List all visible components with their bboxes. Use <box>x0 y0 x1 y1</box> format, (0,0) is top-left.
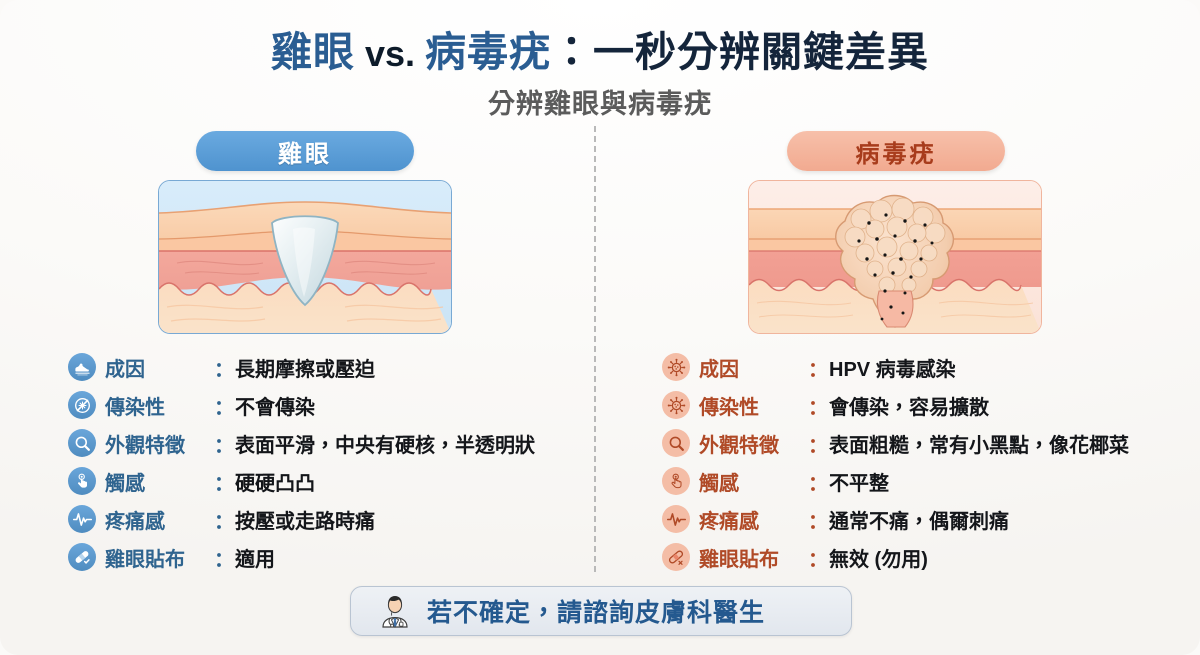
attribute-value: 不會傳染 <box>235 391 315 420</box>
page-title: 雞眼 vs. 病毒疣：一秒分辨關鍵差異 <box>0 18 1200 78</box>
attribute-colon: ： <box>807 353 829 382</box>
attribute-label: 傳染性 <box>699 391 807 420</box>
wart-attribute-list: 成因 ： HPV 病毒感染 <box>662 348 1190 576</box>
attribute-colon: ： <box>213 429 235 458</box>
attribute-colon: ： <box>807 543 829 572</box>
attribute-value: 適用 <box>235 543 275 572</box>
list-item: 傳染性 ： 不會傳染 <box>68 386 588 424</box>
attribute-value: HPV 病毒感染 <box>829 353 956 382</box>
page-subtitle: 分辨雞眼與病毒疣 <box>0 82 1200 121</box>
list-item: 外觀特徵 ： 表面平滑，中央有硬核，半透明狀 <box>68 424 588 462</box>
pulse-icon <box>662 505 690 533</box>
attribute-colon: ： <box>807 505 829 534</box>
attribute-value: 通常不痛，偶爾刺痛 <box>829 505 1009 534</box>
attribute-label: 成因 <box>699 353 807 382</box>
magnifier-icon <box>662 429 690 457</box>
attribute-colon: ： <box>213 505 235 534</box>
bandage-check-icon <box>68 543 96 571</box>
attribute-value: 長期摩擦或壓迫 <box>235 353 375 382</box>
consult-doctor-banner[interactable]: 若不確定，請諮詢皮膚科醫生 <box>350 586 852 636</box>
attribute-colon: ： <box>213 543 235 572</box>
attribute-colon: ： <box>807 429 829 458</box>
attribute-label: 雞眼貼布 <box>105 543 213 572</box>
attribute-value: 硬硬凸凸 <box>235 467 315 496</box>
list-item: 疼痛感 ： 通常不痛，偶爾刺痛 <box>662 500 1190 538</box>
magnifier-icon <box>68 429 96 457</box>
list-item: 雞眼貼布 ： 適用 <box>68 538 588 576</box>
list-item: 成因 ： 長期摩擦或壓迫 <box>68 348 588 386</box>
list-item: 觸感 ： 不平整 <box>662 462 1190 500</box>
attribute-value: 按壓或走路時痛 <box>235 505 375 534</box>
list-item: 傳染性 ： 會傳染，容易擴散 <box>662 386 1190 424</box>
attribute-label: 觸感 <box>105 467 213 496</box>
attribute-value: 表面平滑，中央有硬核，半透明狀 <box>235 429 535 458</box>
virus-icon <box>662 391 690 419</box>
attribute-label: 外觀特徵 <box>105 429 213 458</box>
corn-attribute-list: 成因 ： 長期摩擦或壓迫 傳染性 ： 不會傳染 <box>68 348 588 576</box>
corn-cross-section-illustration <box>158 180 452 334</box>
attribute-value: 表面粗糙，常有小黑點，像花椰菜 <box>829 429 1129 458</box>
touch-hand-icon <box>68 467 96 495</box>
attribute-label: 疼痛感 <box>105 505 213 534</box>
column-header-wart: 病毒疣 <box>787 131 1005 171</box>
consult-doctor-text: 若不確定，請諮詢皮膚科醫生 <box>427 593 765 629</box>
attribute-colon: ： <box>213 467 235 496</box>
list-item: 成因 ： HPV 病毒感染 <box>662 348 1190 386</box>
attribute-value: 無效 (勿用) <box>829 543 928 572</box>
bandage-cross-icon <box>662 543 690 571</box>
pulse-icon <box>68 505 96 533</box>
column-divider <box>594 126 596 572</box>
list-item: 觸感 ： 硬硬凸凸 <box>68 462 588 500</box>
no-virus-icon <box>68 391 96 419</box>
touch-hand-icon <box>662 467 690 495</box>
page-title-term-corn: 雞眼 <box>271 29 355 75</box>
infographic-page: 雞眼 vs. 病毒疣：一秒分辨關鍵差異 分辨雞眼與病毒疣 雞眼 病毒疣 <box>0 0 1200 655</box>
list-item: 疼痛感 ： 按壓或走路時痛 <box>68 500 588 538</box>
attribute-colon: ： <box>213 391 235 420</box>
attribute-colon: ： <box>807 467 829 496</box>
attribute-value: 會傳染，容易擴散 <box>829 391 989 420</box>
attribute-label: 雞眼貼布 <box>699 543 807 572</box>
attribute-value: 不平整 <box>829 467 889 496</box>
wart-cross-section-illustration <box>748 180 1042 334</box>
column-header-corn: 雞眼 <box>196 131 414 171</box>
page-title-vs: vs. <box>355 33 425 74</box>
attribute-label: 成因 <box>105 353 213 382</box>
attribute-label: 傳染性 <box>105 391 213 420</box>
list-item: 雞眼貼布 ： 無效 (勿用) <box>662 538 1190 576</box>
page-title-term-wart: 病毒疣 <box>425 29 551 75</box>
attribute-label: 觸感 <box>699 467 807 496</box>
shoe-friction-icon <box>68 353 96 381</box>
virus-icon <box>662 353 690 381</box>
attribute-colon: ： <box>807 391 829 420</box>
page-title-tail: ：一秒分辨關鍵差異 <box>551 29 929 75</box>
list-item: 外觀特徵 ： 表面粗糙，常有小黑點，像花椰菜 <box>662 424 1190 462</box>
attribute-label: 疼痛感 <box>699 505 807 534</box>
attribute-colon: ： <box>213 353 235 382</box>
attribute-label: 外觀特徵 <box>699 429 807 458</box>
doctor-avatar-icon <box>375 591 415 631</box>
